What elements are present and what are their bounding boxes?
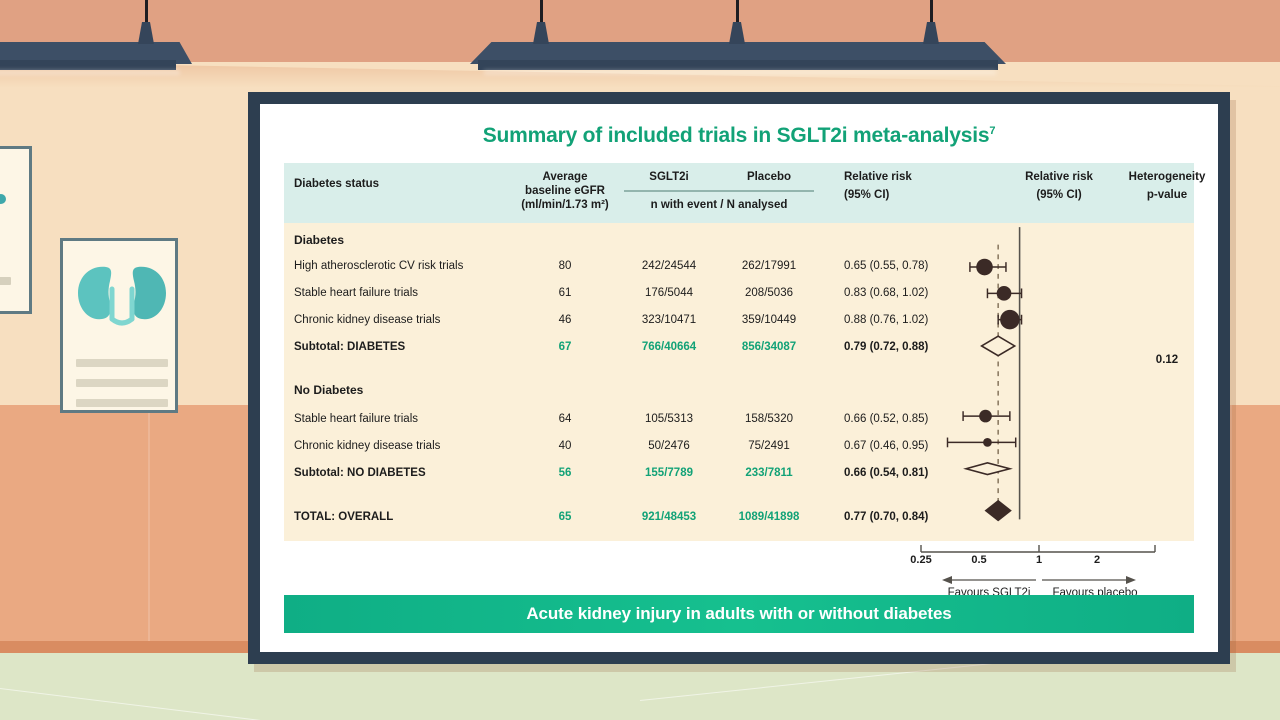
forest-row-marker [948, 438, 1016, 448]
cell-egfr: 67 [510, 341, 620, 353]
slide-content: Summary of included trials in SGLT2i met… [260, 104, 1218, 652]
forest-row-marker [963, 410, 1010, 423]
cell-placebo: 1089/41898 [714, 511, 824, 523]
col-header-diabetes-status: Diabetes status [294, 178, 379, 192]
ceiling-lamp-left [0, 22, 192, 68]
cell-label: TOTAL: OVERALL [294, 511, 393, 523]
cell-sglt2i: 155/7789 [614, 467, 724, 479]
cell-egfr: 46 [510, 314, 620, 326]
cell-placebo: 208/5036 [714, 287, 824, 299]
cell-egfr: 61 [510, 287, 620, 299]
col-header-heterogeneity-line1: Heterogeneity [1112, 171, 1222, 185]
heterogeneity-p-value: 0.12 [1112, 354, 1222, 366]
col-header-n-with-event: n with event / N analysed [614, 199, 824, 213]
cell-egfr: 64 [510, 413, 620, 425]
cell-label: Chronic kidney disease trials [294, 440, 440, 452]
wainscot-seam [148, 405, 150, 645]
col-header-heterogeneity-line2: p-value [1112, 189, 1222, 203]
cell-label: Chronic kidney disease trials [294, 314, 440, 326]
col-header-avg-egfr-line2: baseline eGFR [510, 185, 620, 199]
cell-sglt2i: 105/5313 [614, 413, 724, 425]
forest-row-marker [970, 259, 1006, 276]
page-title: Summary of included trials in SGLT2i met… [284, 124, 1194, 148]
cell-egfr: 40 [510, 440, 620, 452]
cell-label: Subtotal: DIABETES [294, 341, 405, 353]
cell-egfr: 56 [510, 467, 620, 479]
wainscot-seam [1230, 405, 1232, 645]
page-title-text: Summary of included trials in SGLT2i met… [483, 124, 990, 147]
forest-axis: 0.25 0.5 1 2 Favours SGLT2i Favours plac… [284, 542, 1218, 602]
row-group-no-diabetes: No Diabetes [294, 383, 363, 397]
axis-tick-2: 2 [1075, 554, 1119, 566]
table-header: Diabetes status Average baseline eGFR (m… [284, 163, 1194, 223]
col-header-avg-egfr-line1: Average [510, 171, 620, 185]
cell-label: Stable heart failure trials [294, 287, 418, 299]
organ-icon [0, 163, 35, 243]
kidney-icon [72, 261, 172, 331]
cell-sglt2i: 176/5044 [614, 287, 724, 299]
forest-total-diamond [985, 500, 1012, 521]
presentation-board: Summary of included trials in SGLT2i met… [248, 92, 1230, 664]
wall-poster-partial [0, 146, 32, 314]
page-title-superscript: 7 [989, 125, 995, 137]
cell-label: Subtotal: NO DIABETES [294, 467, 426, 479]
cell-rr: 0.65 (0.55, 0.78) [844, 260, 928, 272]
cell-sglt2i: 766/40664 [614, 341, 724, 353]
cell-rr: 0.79 (0.72, 0.88) [844, 341, 928, 353]
cell-sglt2i: 242/24544 [614, 260, 724, 272]
axis-tick-1: 1 [1017, 554, 1061, 566]
row-group-diabetes: Diabetes [294, 233, 344, 247]
cell-placebo: 75/2491 [714, 440, 824, 452]
cell-placebo: 233/7811 [714, 467, 824, 479]
footer-banner: Acute kidney injury in adults with or wi… [284, 595, 1194, 633]
wall-poster-kidney [60, 238, 178, 413]
cell-label: Stable heart failure trials [294, 413, 418, 425]
table-body: Diabetes No Diabetes High atheroscleroti… [284, 223, 1194, 541]
cell-rr: 0.66 (0.52, 0.85) [844, 413, 928, 425]
cell-placebo: 359/10449 [714, 314, 824, 326]
ceiling-lamp-right [470, 22, 1006, 68]
cell-egfr: 80 [510, 260, 620, 272]
col-header-sglt2i: SGLT2i [614, 171, 724, 185]
cell-sglt2i: 323/10471 [614, 314, 724, 326]
cell-sglt2i: 921/48453 [614, 511, 724, 523]
forest-row-marker [998, 310, 1021, 329]
col-header-relative-risk-text-line1: Relative risk [844, 171, 912, 185]
cell-rr: 0.88 (0.76, 1.02) [844, 314, 928, 326]
cell-egfr: 65 [510, 511, 620, 523]
cell-rr: 0.67 (0.46, 0.95) [844, 440, 928, 452]
footer-banner-text: Acute kidney injury in adults with or wi… [526, 604, 951, 624]
cell-label: High atherosclerotic CV risk trials [294, 260, 463, 272]
cell-rr: 0.77 (0.70, 0.84) [844, 511, 928, 523]
col-header-relative-risk-text-line2: (95% CI) [844, 189, 889, 203]
forest-subtotal-diamond [982, 336, 1015, 355]
col-header-divider [624, 190, 814, 192]
col-header-placebo: Placebo [714, 171, 824, 185]
axis-tick-0-25: 0.25 [899, 554, 943, 566]
cell-placebo: 158/5320 [714, 413, 824, 425]
forest-subtotal-diamond [966, 463, 1010, 475]
forest-row-marker [987, 286, 1021, 301]
cell-rr: 0.83 (0.68, 1.02) [844, 287, 928, 299]
cell-rr: 0.66 (0.54, 0.81) [844, 467, 928, 479]
col-header-avg-egfr-line3: (ml/min/1.73 m²) [510, 199, 620, 213]
axis-tick-0-5: 0.5 [957, 554, 1001, 566]
cell-placebo: 262/17991 [714, 260, 824, 272]
cell-sglt2i: 50/2476 [614, 440, 724, 452]
cell-placebo: 856/34087 [714, 341, 824, 353]
